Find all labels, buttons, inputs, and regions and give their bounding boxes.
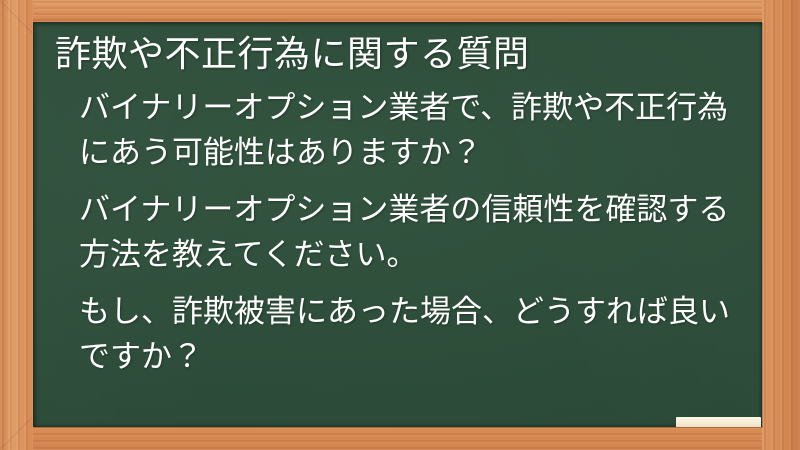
list-item: もし、詐欺被害にあった場合、どうすれば良いですか？	[79, 290, 739, 380]
list-item: バイナリーオプション業者で、詐欺や不正行為にあう可能性はありますか？	[79, 86, 739, 176]
page-title: 詐欺や不正行為に関する質問	[55, 32, 740, 78]
frame-rail-top	[0, 0, 800, 22]
chalk-stick-icon	[676, 417, 761, 427]
frame-rail-bottom	[0, 427, 800, 450]
chalkboard: 詐欺や不正行為に関する質問 バイナリーオプション業者で、詐欺や不正行為にあう可能…	[33, 22, 762, 427]
list-item: バイナリーオプション業者の信頼性を確認する方法を教えてください。	[79, 188, 739, 278]
question-list: バイナリーオプション業者で、詐欺や不正行為にあう可能性はありますか？ バイナリー…	[55, 86, 740, 380]
frame-stile-left	[0, 0, 33, 450]
chalkboard-content: 詐欺や不正行為に関する質問 バイナリーオプション業者で、詐欺や不正行為にあう可能…	[33, 22, 762, 427]
frame-stile-right	[762, 0, 800, 450]
slide-canvas: 詐欺や不正行為に関する質問 バイナリーオプション業者で、詐欺や不正行為にあう可能…	[0, 0, 800, 450]
